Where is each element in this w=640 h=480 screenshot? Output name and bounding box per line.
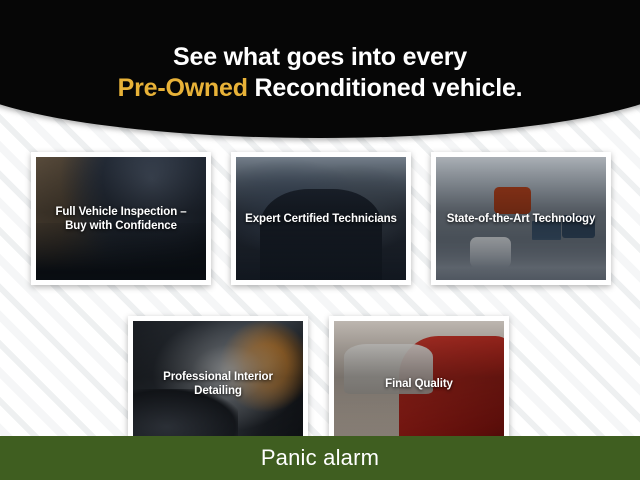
feature-card-professional-interior-detailing[interactable]: Professional Interior Detailing bbox=[128, 316, 308, 451]
headline-highlight: Pre-Owned bbox=[118, 74, 248, 102]
feature-card-caption: Expert Certified Technicians bbox=[236, 212, 406, 226]
header-banner: See what goes into every Pre-Owned Recon… bbox=[0, 0, 640, 138]
feature-card-row-1: Full Vehicle Inspection – Buy with Confi… bbox=[31, 152, 611, 285]
headline-block: See what goes into every Pre-Owned Recon… bbox=[0, 42, 640, 104]
headline-line-2: Pre-Owned Reconditioned vehicle. bbox=[0, 73, 640, 104]
headline-line-1: See what goes into every bbox=[0, 42, 640, 73]
feature-card-row-2: Professional Interior Detailing Final Qu… bbox=[128, 316, 509, 451]
feature-card-caption: Final Quality bbox=[334, 377, 504, 391]
feature-card-expert-certified-technicians[interactable]: Expert Certified Technicians bbox=[231, 152, 411, 285]
feature-card-caption: Professional Interior Detailing bbox=[133, 370, 303, 398]
feature-card-state-of-the-art-technology[interactable]: State-of-the-Art Technology bbox=[431, 152, 611, 285]
headline-line-2-rest: Reconditioned vehicle. bbox=[248, 74, 523, 102]
feature-card-caption: Full Vehicle Inspection – Buy with Confi… bbox=[36, 205, 206, 233]
feature-card-caption: State-of-the-Art Technology bbox=[436, 212, 606, 226]
feature-card-full-vehicle-inspection[interactable]: Full Vehicle Inspection – Buy with Confi… bbox=[31, 152, 211, 285]
footer-label: Panic alarm bbox=[261, 446, 379, 470]
footer-bar: Panic alarm bbox=[0, 436, 640, 480]
slide-canvas: See what goes into every Pre-Owned Recon… bbox=[0, 0, 640, 480]
feature-card-final-quality[interactable]: Final Quality bbox=[329, 316, 509, 451]
